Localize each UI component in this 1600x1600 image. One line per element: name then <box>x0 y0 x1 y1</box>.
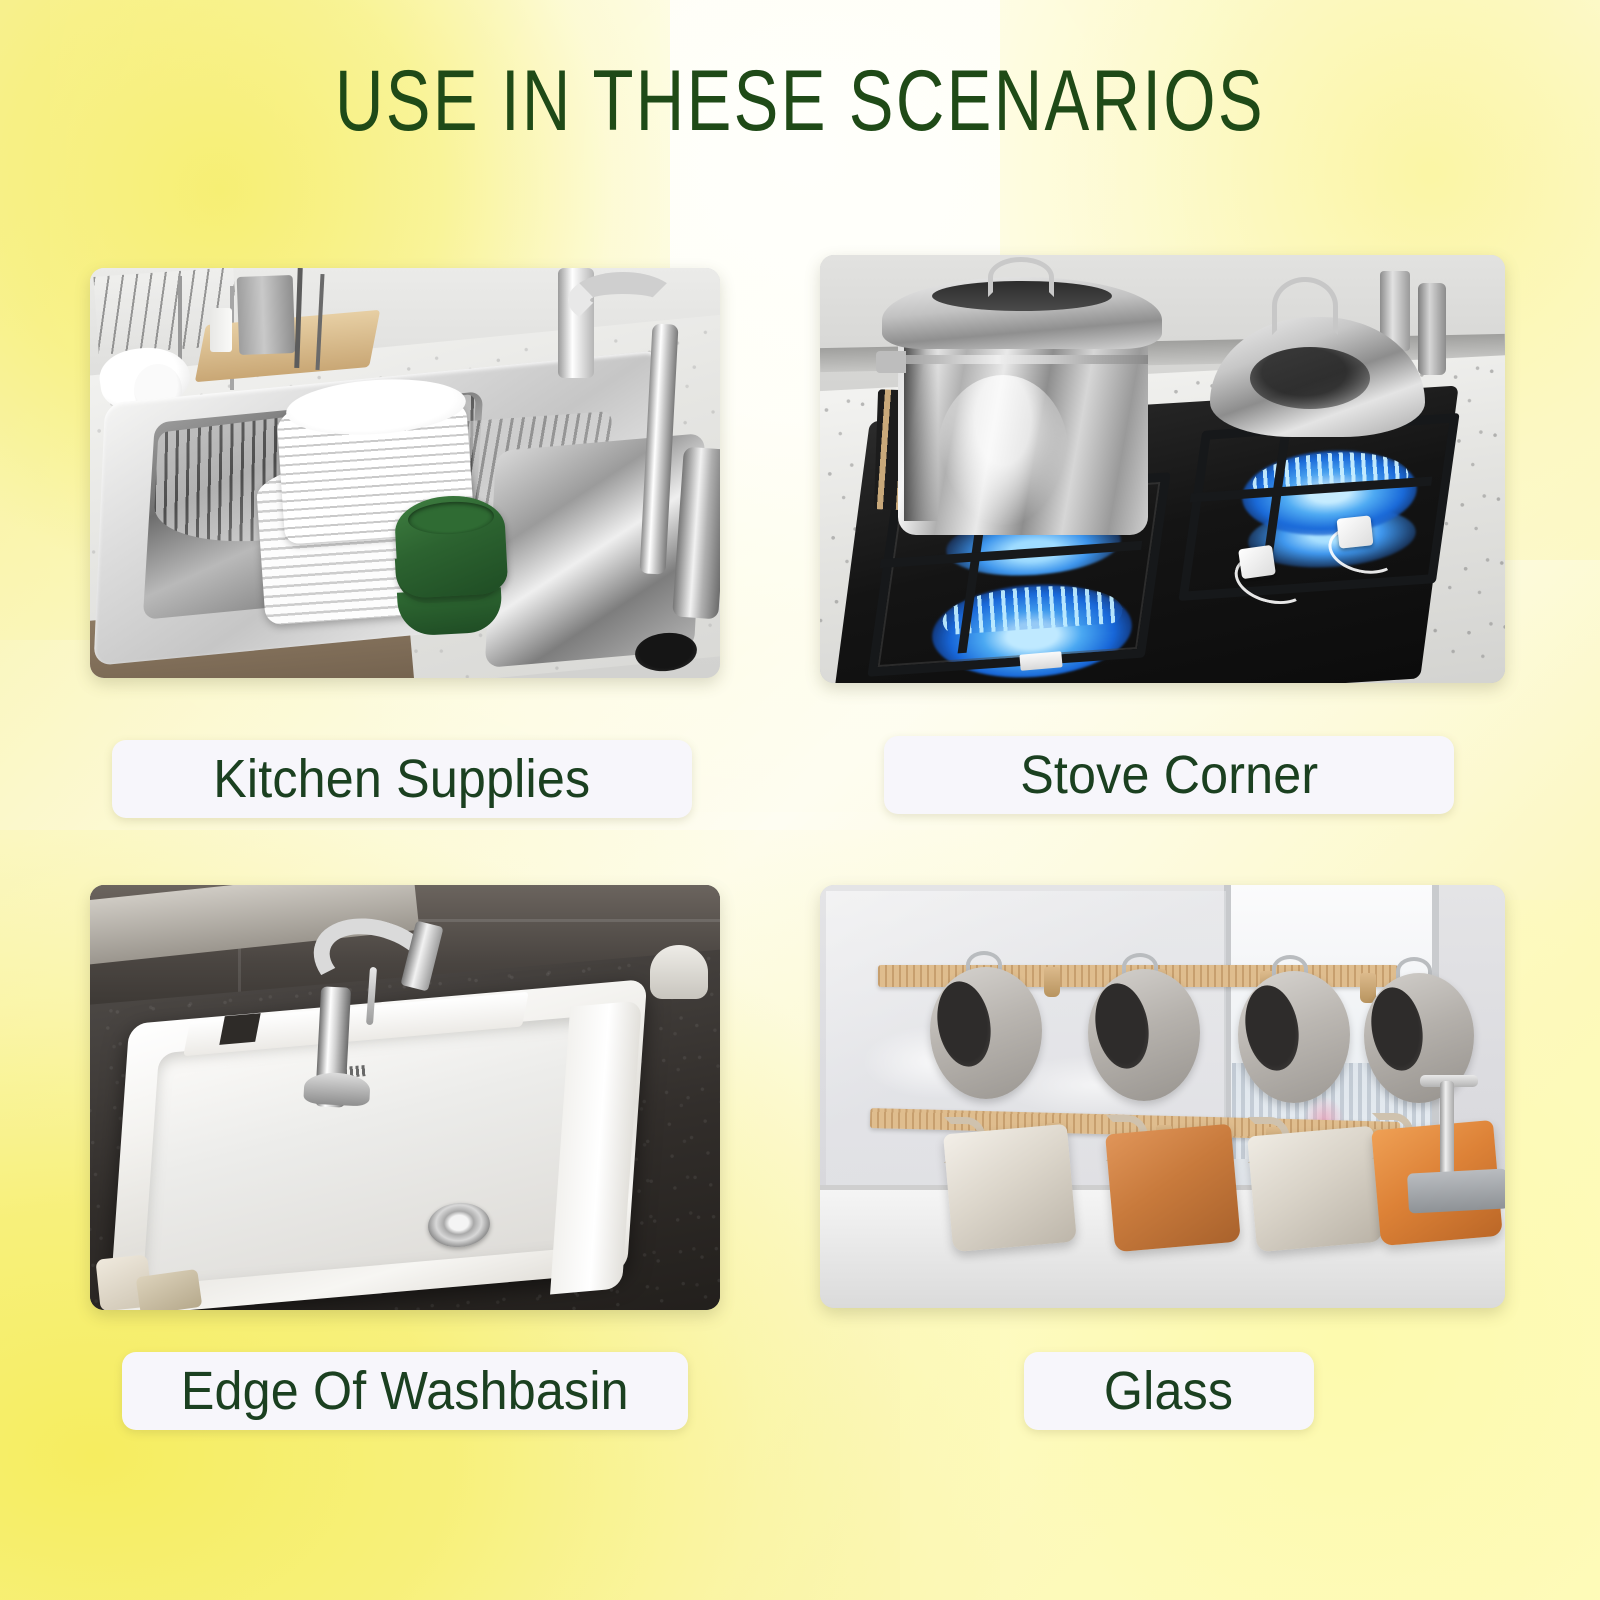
standing-mug-cream-2 <box>1247 1126 1383 1253</box>
scenario-image-edge-of-washbasin <box>90 885 720 1310</box>
scenario-image-glass <box>820 885 1505 1308</box>
standing-mug-terracotta-1 <box>1105 1124 1241 1253</box>
wooden-tray <box>136 1269 203 1310</box>
washbasin-notch <box>219 1013 260 1045</box>
rail-peg <box>1044 967 1060 997</box>
caption-label: Glass <box>1104 1360 1233 1422</box>
pot-handle <box>876 351 906 373</box>
caption-stove-corner: Stove Corner <box>884 736 1454 814</box>
white-canister <box>210 308 232 352</box>
page-title: USE IN THESE SCENARIOS <box>176 58 1424 146</box>
scenario-image-kitchen-supplies <box>90 268 720 678</box>
pot-lid-handle <box>988 257 1054 297</box>
infographic-page: USE IN THESE SCENARIOS <box>0 0 1600 1600</box>
caption-label: Kitchen Supplies <box>213 748 590 810</box>
kitchen-faucet <box>1440 1081 1454 1177</box>
faucet-neck <box>568 272 678 328</box>
scenario-image-stove-corner <box>820 255 1505 683</box>
washbasin-interior <box>143 1014 608 1286</box>
caption-kitchen-supplies: Kitchen Supplies <box>112 740 692 818</box>
pot-highlight <box>938 375 1068 525</box>
wok-lid-handle <box>1272 277 1338 335</box>
caption-edge-of-washbasin: Edge Of Washbasin <box>122 1352 688 1430</box>
white-clip <box>1238 545 1276 579</box>
pot-shadow <box>904 341 938 521</box>
standing-mug-cream-1 <box>943 1124 1077 1252</box>
burner-grate-right <box>1178 413 1459 601</box>
white-clip <box>1337 515 1374 548</box>
kitchen-sink-edge <box>1407 1168 1505 1213</box>
caption-label: Stove Corner <box>1020 744 1318 806</box>
counter-jar <box>650 945 708 999</box>
caption-label: Edge Of Washbasin <box>181 1360 629 1422</box>
metal-bottle <box>1418 283 1446 375</box>
wok-lid-reflection <box>1250 347 1370 409</box>
caption-glass: Glass <box>1024 1352 1314 1430</box>
pot-rim-band <box>898 355 1148 364</box>
grey-canister <box>237 275 296 355</box>
